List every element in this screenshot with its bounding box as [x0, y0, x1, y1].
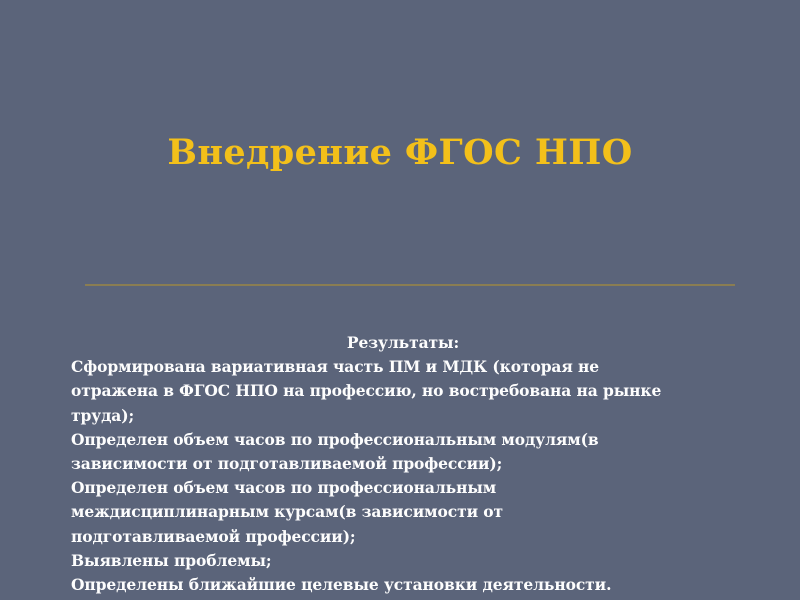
slide-body-text: Результаты: Сформирована вариативная час…: [71, 331, 735, 597]
title-divider-rule: [85, 284, 735, 286]
body-text-line: Определены ближайшие целевые установки д…: [71, 573, 735, 597]
presentation-slide: Внедрение ФГОС НПО Результаты: Сформиров…: [0, 0, 800, 600]
slide-title-block: Внедрение ФГОС НПО: [0, 131, 800, 175]
body-text-line: отражена в ФГОС НПО на профессию, но вос…: [71, 379, 735, 403]
body-text-line: междисциплинарным курсам(в зависимости о…: [71, 500, 735, 524]
body-text-line: подготавливаемой профессии);: [71, 525, 735, 549]
body-text-line: Сформирована вариативная часть ПМ и МДК …: [71, 355, 735, 379]
page-title: Внедрение ФГОС НПО: [167, 131, 632, 175]
body-text-line: Выявлены проблемы;: [71, 549, 735, 573]
results-heading: Результаты:: [71, 331, 735, 355]
body-text-line: Определен объем часов по профессиональны…: [71, 476, 735, 500]
body-text-line: труда);: [71, 404, 735, 428]
body-text-line: Определен объем часов по профессиональны…: [71, 428, 735, 452]
body-text-line: зависимости от подготавливаемой професси…: [71, 452, 735, 476]
